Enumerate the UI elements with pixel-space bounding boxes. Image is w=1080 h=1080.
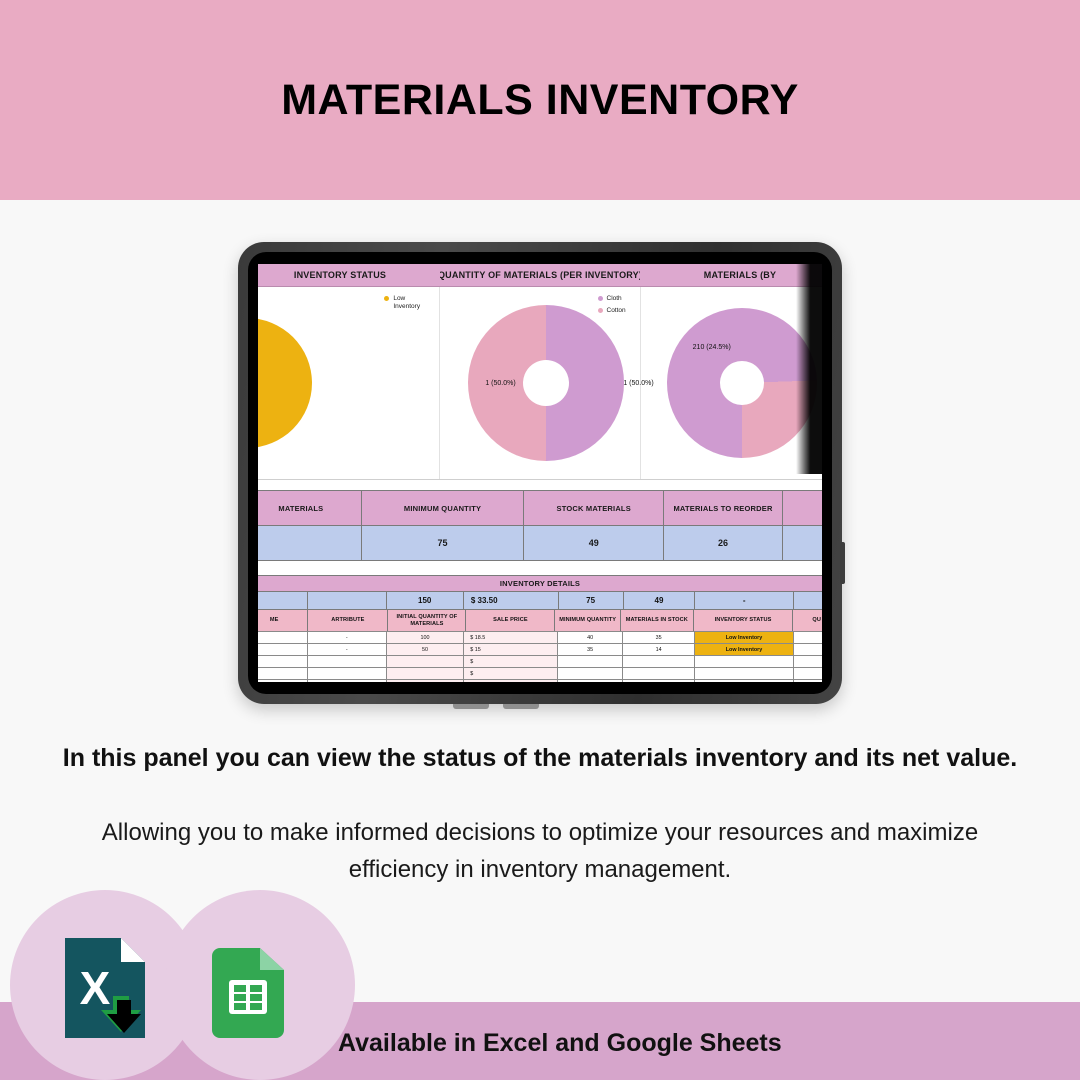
detail-header-initial-quantity: INITIAL QUANTITY OF MATERIALS — [387, 609, 466, 632]
detail-header-extra: QU — [792, 609, 822, 632]
spreadsheet: INVENTORY STATUS QUANTITY OF MATERIALS (… — [258, 264, 822, 682]
legend-color-swatch-icon — [598, 296, 603, 301]
cell-name[interactable] — [258, 679, 308, 682]
legend-item: Cotton — [598, 307, 626, 315]
header-band: MATERIALS INVENTORY — [0, 0, 1080, 200]
sheet-gap-row — [258, 480, 822, 490]
svg-text:X: X — [80, 962, 111, 1014]
cell-minimum-quantity[interactable] — [557, 679, 623, 682]
tablet-foot-right — [503, 704, 539, 709]
slice-label-cotton-qty: 210 (24.5%) — [693, 344, 731, 351]
legend-inventory-status: Low Inventory — [384, 295, 427, 315]
slice-label-cotton: 1 (50.0%) — [485, 380, 515, 387]
tablet-power-button — [840, 542, 845, 584]
chart-materials-by[interactable]: 210 (24.5%) — [641, 287, 822, 479]
total-initial-quantity[interactable]: 150 — [386, 591, 464, 610]
total-name[interactable] — [258, 591, 308, 610]
total-minimum-quantity[interactable]: 75 — [558, 591, 624, 610]
cell-initial-quantity[interactable] — [386, 679, 464, 682]
tablet-mockup: INVENTORY STATUS QUANTITY OF MATERIALS (… — [238, 242, 842, 704]
inventory-details-title: INVENTORY DETAILS — [258, 575, 822, 592]
legend-item: Cloth — [598, 295, 626, 303]
detail-header-name: ME — [258, 609, 308, 632]
summary-header-materials-to-reorder: MATERIALS TO REORDER — [663, 490, 783, 526]
sheet-spacer — [258, 561, 822, 575]
table-row[interactable]: $ — [258, 680, 822, 682]
detail-header-sale-price: SALE PRICE — [465, 609, 555, 632]
total-materials-in-stock[interactable]: 49 — [623, 591, 696, 610]
summary-header-materials: MATERIALS — [258, 490, 362, 526]
chart-title-inventory-status: INVENTORY STATUS — [258, 264, 440, 286]
chart-title-materials-by: MATERIALS (BY — [640, 264, 822, 286]
cell-inventory-status[interactable] — [694, 679, 794, 682]
summary-value-extra[interactable] — [782, 525, 822, 561]
legend-item: Low Inventory — [384, 295, 427, 311]
summary-value-row: 75 49 26 — [258, 526, 822, 561]
chart-inventory-status[interactable]: Low Inventory — [258, 287, 440, 479]
tablet-foot-left — [453, 704, 489, 709]
detail-header-artribute: ARTRIBUTE — [307, 609, 388, 632]
summary-value-materials-to-reorder[interactable]: 26 — [663, 525, 783, 561]
inventory-details-totals-row: 150 $ 33.50 75 49 - — [258, 592, 822, 610]
chart-title-row: INVENTORY STATUS QUANTITY OF MATERIALS (… — [258, 264, 822, 287]
total-inventory-status[interactable]: - — [694, 591, 794, 610]
caption-regular: Allowing you to make informed decisions … — [60, 814, 1020, 888]
detail-header-minimum-quantity: MINIMUM QUANTITY — [554, 609, 621, 632]
detail-header-materials-in-stock: MATERIALS IN STOCK — [620, 609, 694, 632]
legend-color-swatch-icon — [384, 296, 389, 301]
summary-value-minimum-quantity[interactable]: 75 — [361, 525, 525, 561]
cell-extra[interactable] — [793, 679, 822, 682]
legend-label: Cotton — [607, 307, 626, 315]
pie-inventory-status — [258, 318, 312, 448]
summary-header-extra — [782, 490, 822, 526]
summary-header-minimum-quantity: MINIMUM QUANTITY — [361, 490, 525, 526]
summary-value-stock-materials[interactable]: 49 — [523, 525, 664, 561]
summary-header-stock-materials: STOCK MATERIALS — [523, 490, 664, 526]
legend-label: Cloth — [607, 295, 622, 303]
chart-quantity-of-materials[interactable]: 1 (50.0%) 1 (50.0%) Cloth Cotton — [440, 287, 640, 479]
donut-hole — [720, 361, 764, 405]
cell-sale-price[interactable]: $ — [463, 679, 558, 682]
caption-bold: In this panel you can view the status of… — [60, 740, 1020, 776]
tablet-screen: INVENTORY STATUS QUANTITY OF MATERIALS (… — [258, 264, 822, 682]
legend-label: Low Inventory — [393, 295, 427, 311]
donut-hole — [523, 360, 569, 406]
detail-header-inventory-status: INVENTORY STATUS — [693, 609, 794, 632]
footer-availability-text: Available in Excel and Google Sheets — [338, 1029, 782, 1058]
inventory-details-header-row: ME ARTRIBUTE INITIAL QUANTITY OF MATERIA… — [258, 610, 822, 632]
pie-materials-by — [667, 308, 817, 458]
summary-value-materials[interactable] — [258, 525, 362, 561]
excel-file-download-icon[interactable]: X — [65, 938, 145, 1038]
total-sale-price[interactable]: $ 33.50 — [463, 591, 559, 610]
total-artribute[interactable] — [307, 591, 387, 610]
legend-color-swatch-icon — [598, 308, 603, 313]
charts-row: Low Inventory 1 (50.0%) 1 (50.0%) Cloth — [258, 287, 822, 480]
summary-header-row: MATERIALS MINIMUM QUANTITY STOCK MATERIA… — [258, 490, 822, 526]
chart-title-quantity-of-materials: QUANTITY OF MATERIALS (PER INVENTORY) — [440, 264, 640, 286]
page-title: MATERIALS INVENTORY — [281, 76, 799, 125]
cell-materials-in-stock[interactable] — [622, 679, 695, 682]
total-extra[interactable] — [793, 591, 822, 610]
legend-quantity-of-materials: Cloth Cotton — [598, 295, 626, 319]
google-sheets-icon[interactable] — [212, 948, 284, 1038]
cell-artribute[interactable] — [307, 679, 387, 682]
